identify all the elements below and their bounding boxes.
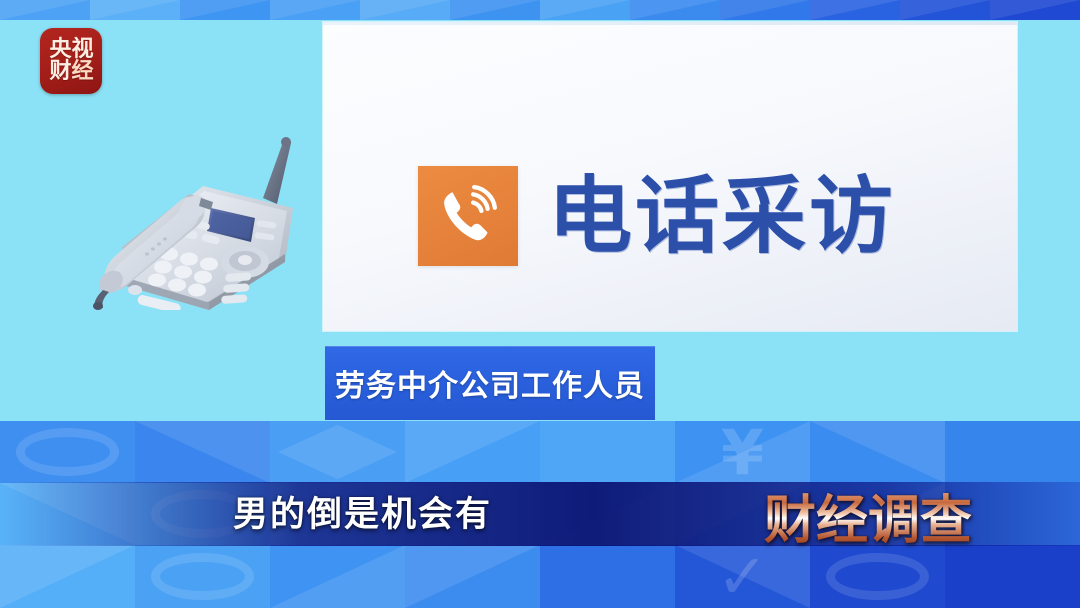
page-title: 电话采访 [548, 174, 896, 258]
phone-call-icon [418, 166, 518, 266]
top-strip-cell [270, 0, 360, 20]
mosaic-cell [135, 545, 270, 608]
mosaic-cell [540, 545, 675, 608]
top-mosaic-strip [0, 0, 1080, 20]
mosaic-cell [135, 421, 270, 483]
mosaic-row: ✓ [0, 545, 1080, 608]
channel-logo-char-4: 经 [72, 60, 93, 84]
top-strip-cell [360, 0, 450, 20]
mosaic-cell [0, 545, 135, 608]
top-strip-cell [0, 0, 90, 20]
top-strip-cell [810, 0, 900, 20]
mosaic-shape-circ [151, 553, 254, 601]
top-strip-cell [540, 0, 630, 20]
speaker-label: 劳务中介公司工作人员 [335, 361, 645, 405]
headline-group: 电话采访 [418, 166, 896, 266]
desk-telephone-illustration [85, 112, 323, 310]
top-strip-cell [990, 0, 1080, 20]
show-logo: 财经调查 财经调查 [748, 482, 988, 548]
mosaic-shape-tri-br [270, 545, 405, 608]
top-strip-cell [720, 0, 810, 20]
mosaic-cell [810, 545, 945, 608]
mosaic-glyph: ¥ [675, 421, 810, 483]
mosaic-cell [945, 545, 1080, 608]
mosaic-cell: ¥ [675, 421, 810, 483]
broadcast-frame: 央 视 财 经 [0, 0, 1080, 608]
channel-logo: 央 视 财 经 [40, 28, 102, 94]
mosaic-shape-diamond [270, 421, 405, 483]
mosaic-shape-tri-tr [810, 421, 945, 483]
top-strip-cell [90, 0, 180, 20]
show-logo-text: 财经调查 [764, 478, 972, 553]
mosaic-shape-tri-tr [135, 421, 270, 483]
mosaic-row: ¥ [0, 421, 1080, 483]
mosaic-glyph: ✓ [675, 545, 810, 608]
channel-logo-char-3: 财 [49, 60, 70, 84]
top-strip-cell [450, 0, 540, 20]
mosaic-cell [405, 421, 540, 483]
mosaic-cell [540, 421, 675, 483]
mosaic-shape-tri-tl [405, 545, 540, 608]
mosaic-cell [0, 421, 135, 483]
mosaic-shape-tri-tl [0, 545, 135, 608]
top-strip-cell [630, 0, 720, 20]
top-strip-cell [900, 0, 990, 20]
mosaic-shape-circ [16, 428, 119, 475]
top-strip-cell [180, 0, 270, 20]
speaker-attribution-banner: 劳务中介公司工作人员 [325, 346, 655, 420]
mosaic-cell [810, 421, 945, 483]
mosaic-shape-circ [826, 553, 929, 601]
mosaic-cell [945, 421, 1080, 483]
mosaic-cell [270, 421, 405, 483]
mosaic-cell: ✓ [675, 545, 810, 608]
mosaic-cell [270, 545, 405, 608]
mosaic-cell [405, 545, 540, 608]
mosaic-shape-tri-tl [405, 421, 540, 483]
